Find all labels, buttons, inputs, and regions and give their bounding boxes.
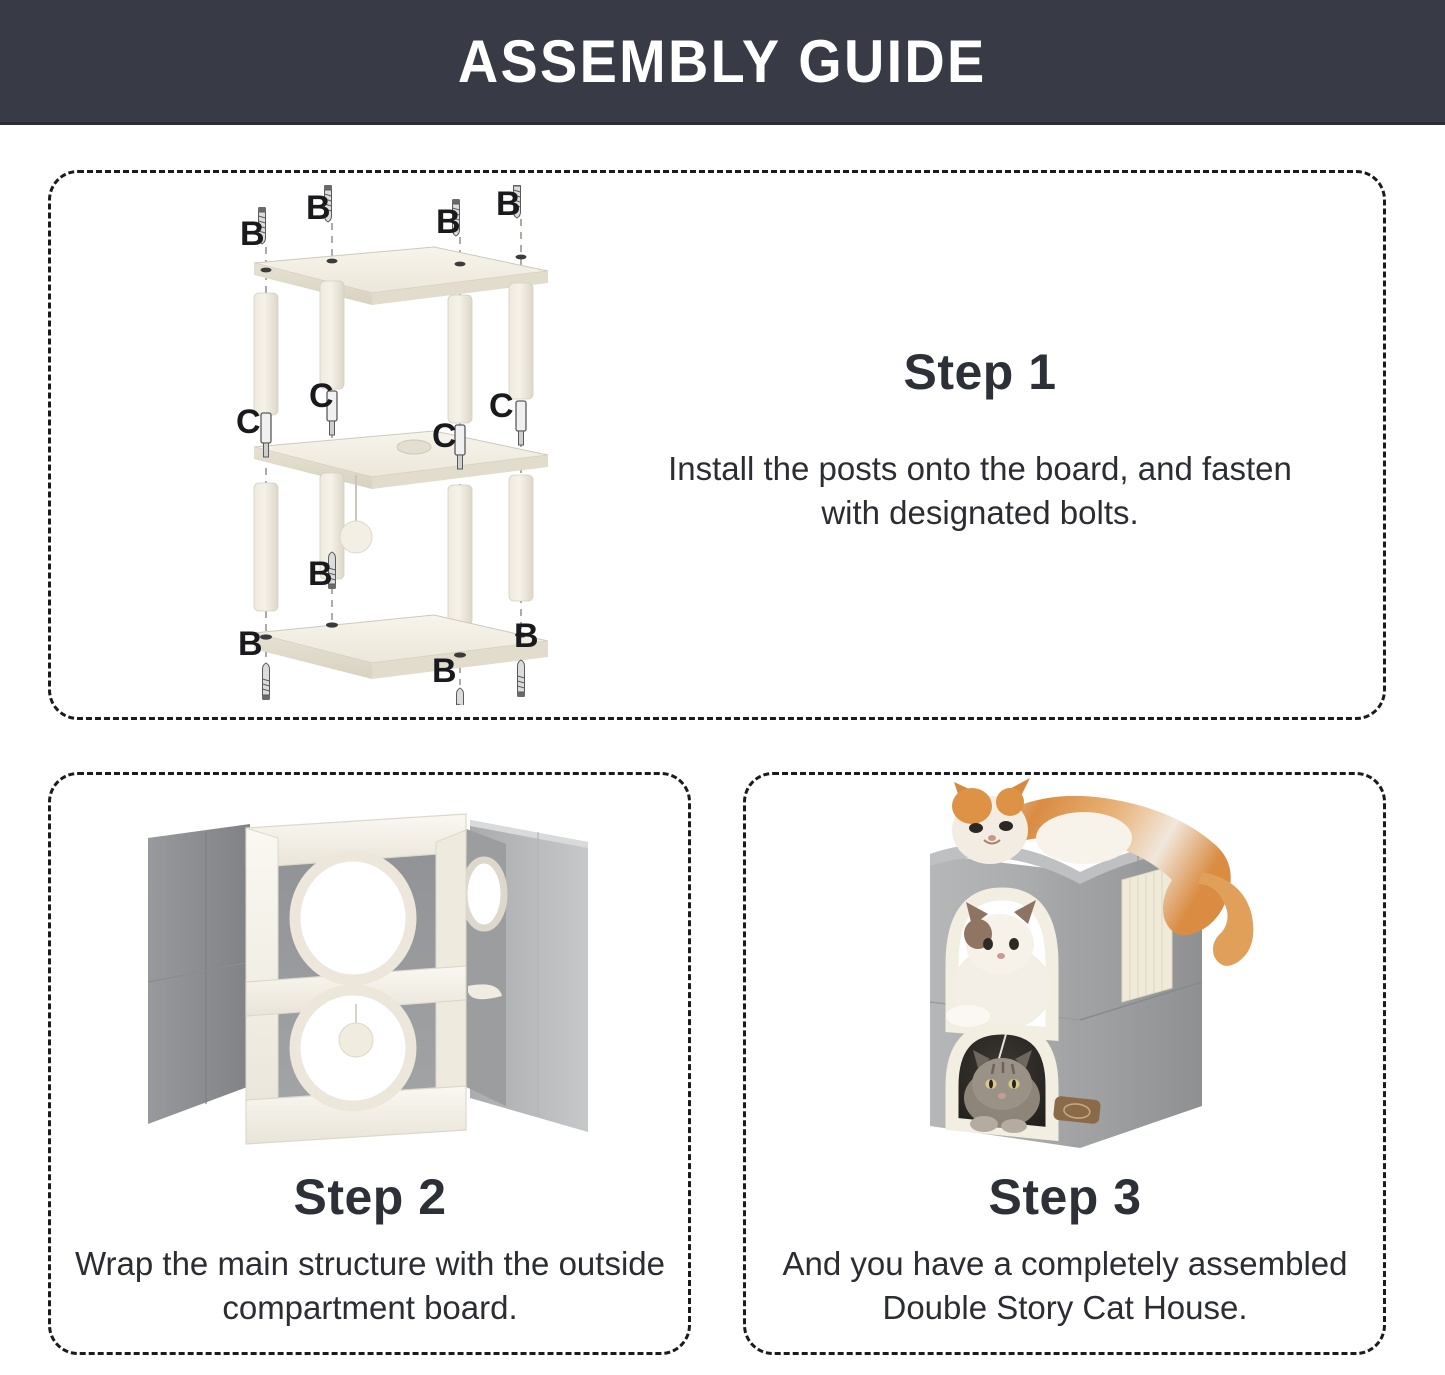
part-label-B: B: [514, 617, 539, 655]
part-label-B: B: [306, 189, 331, 227]
part-label-B: B: [240, 215, 265, 253]
lower-posts: [254, 473, 533, 625]
top-board: [254, 247, 548, 305]
lower-opening: [952, 1028, 1052, 1134]
bottom-board: [254, 615, 548, 679]
step2-text-block: Step 2 Wrap the main structure with the …: [70, 1168, 670, 1329]
header-bar: ASSEMBLY GUIDE: [0, 0, 1445, 122]
header-underline: [0, 122, 1445, 125]
leather-brand-tag: [1053, 1096, 1101, 1125]
part-label-B: B: [238, 625, 263, 663]
part-label-B: B: [496, 185, 521, 223]
page-title: ASSEMBLY GUIDE: [458, 27, 987, 96]
part-label-B: B: [436, 203, 461, 241]
step2-product-photo: [118, 786, 608, 1166]
step1-description: Install the posts onto the board, and fa…: [650, 447, 1310, 534]
part-label-C: C: [309, 377, 334, 415]
right-wrap-segment: [464, 828, 506, 1106]
step3-description: And you have a completely assembled Doub…: [765, 1242, 1365, 1329]
part-label-C: C: [236, 403, 261, 441]
step1-heading: Step 1: [650, 343, 1310, 401]
step1-exploded-diagram: B B B B C C C C B B B B: [196, 185, 586, 705]
sisal-scratching-pad: [1122, 866, 1172, 1002]
upper-opening: [946, 894, 1052, 1034]
step2-description: Wrap the main structure with the outside…: [70, 1242, 670, 1329]
step1-text-block: Step 1 Install the posts onto the board,…: [650, 343, 1310, 534]
left-compartment-board: [148, 824, 250, 1124]
part-label-C: C: [489, 387, 514, 425]
part-label-C: C: [432, 417, 457, 455]
middle-board: [254, 431, 548, 489]
step3-product-photo: [872, 776, 1327, 1171]
step3-heading: Step 3: [765, 1168, 1365, 1226]
step3-text-block: Step 3 And you have a completely assembl…: [765, 1168, 1365, 1329]
part-label-B: B: [432, 652, 457, 690]
part-label-B: B: [308, 555, 333, 593]
step2-heading: Step 2: [70, 1168, 670, 1226]
